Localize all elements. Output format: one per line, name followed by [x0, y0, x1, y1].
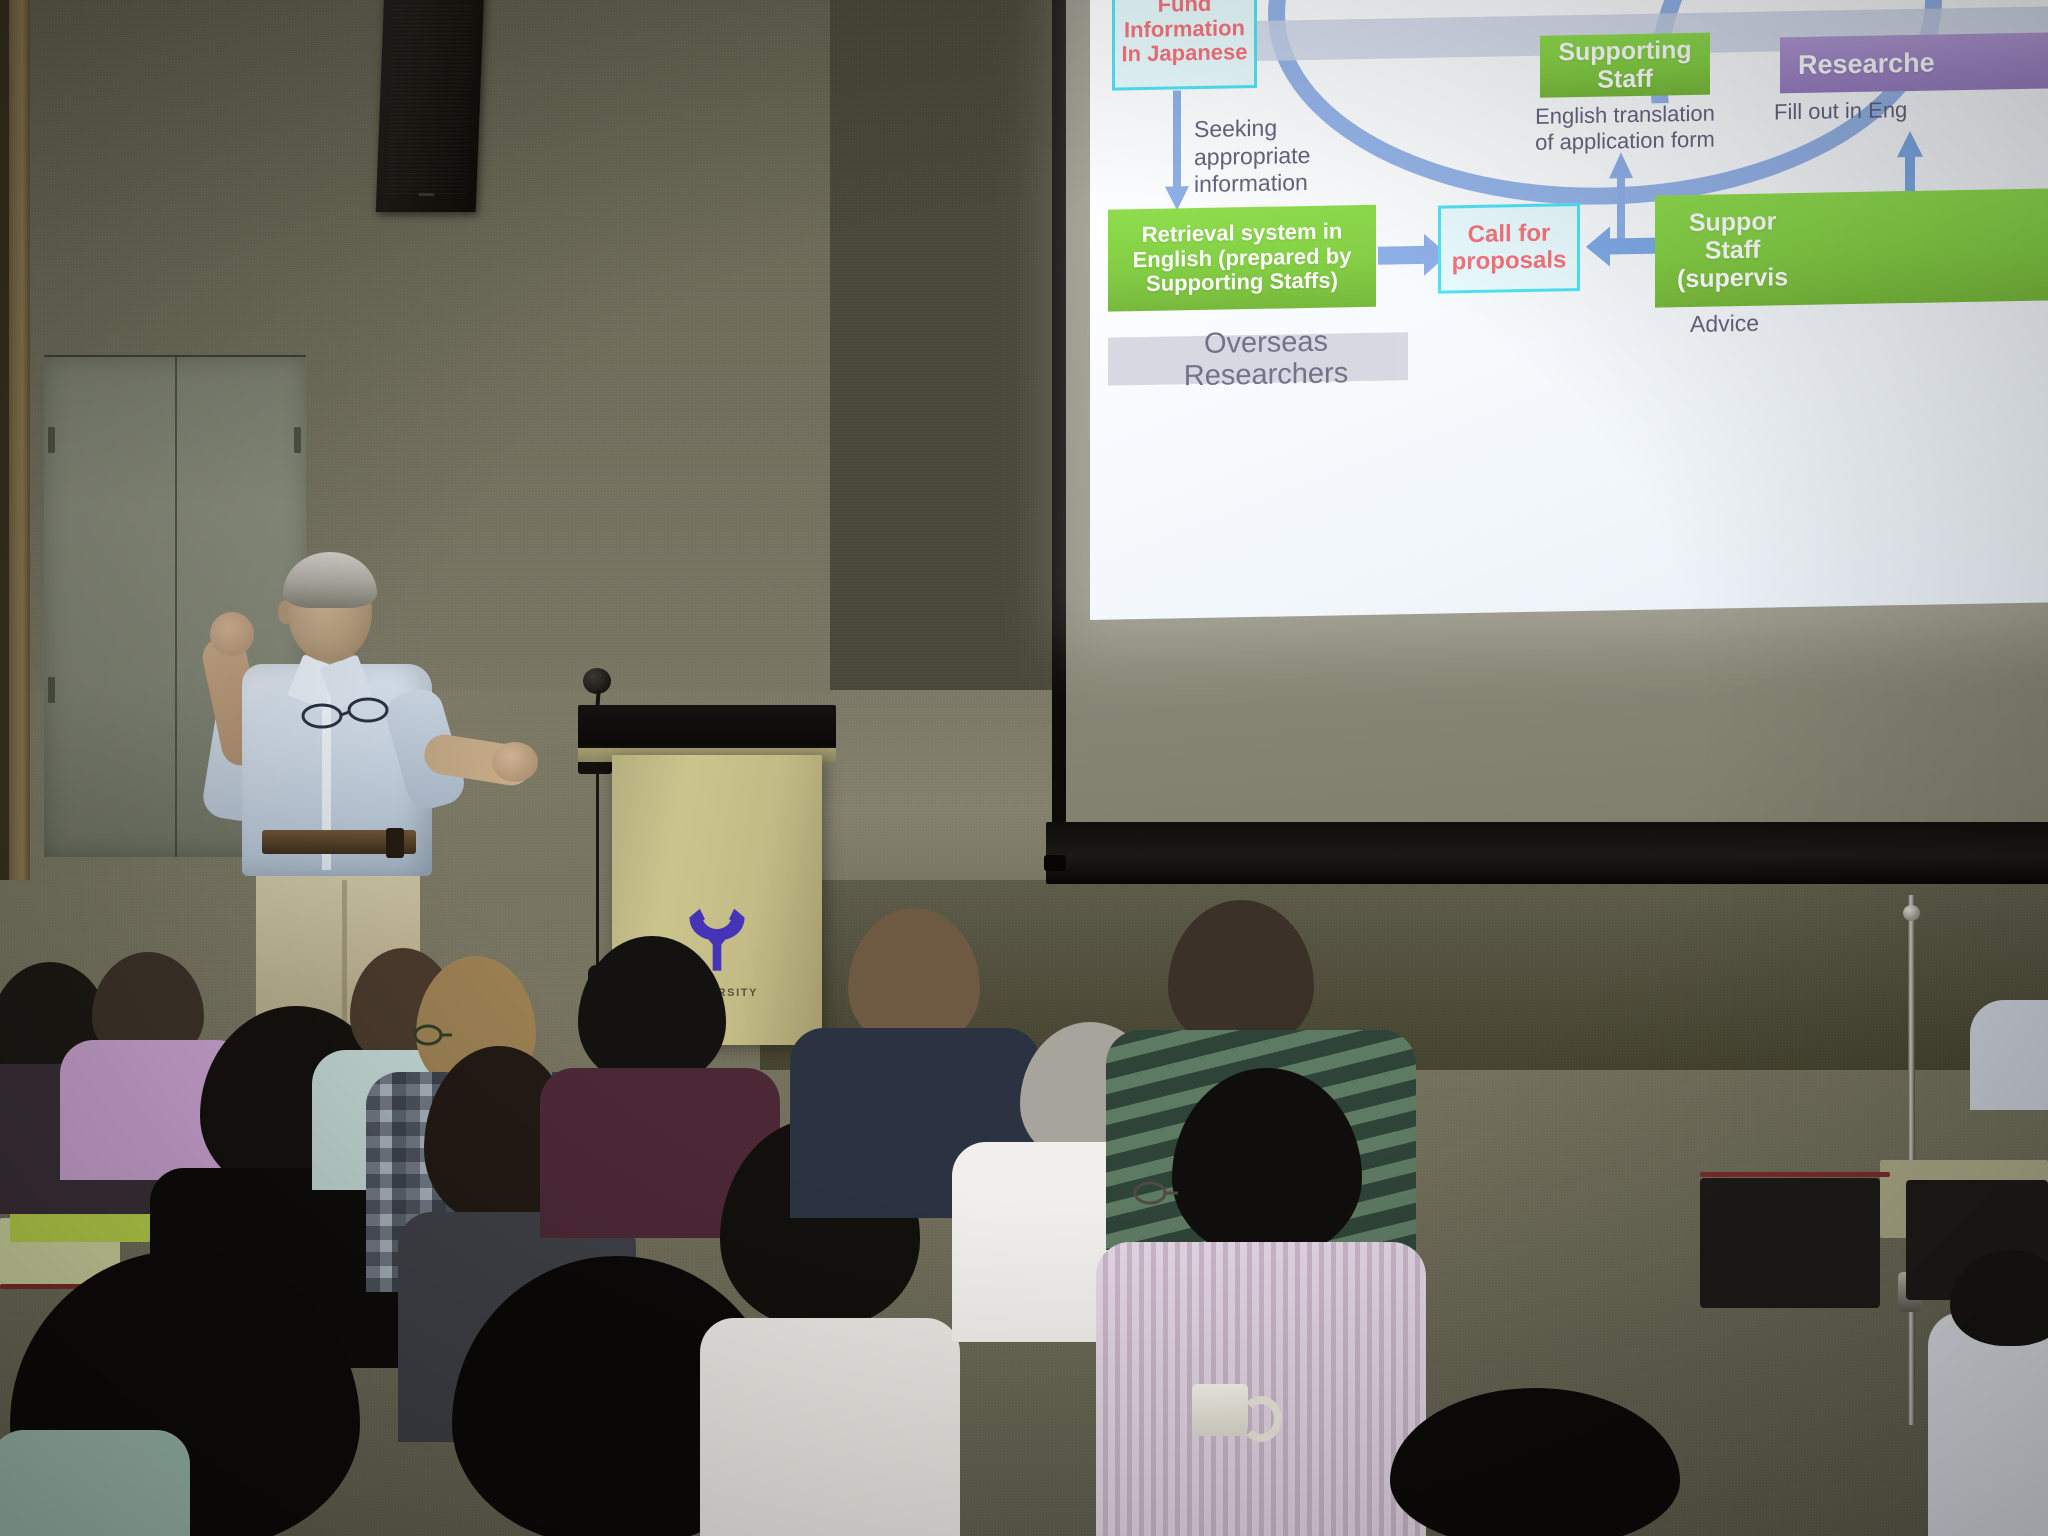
slide-caption-fill-out: Fill out in Eng	[1774, 94, 2048, 126]
slide-box-call-for-proposals: Call for proposals	[1438, 203, 1580, 294]
audience-body	[1096, 1242, 1426, 1536]
door-hinge	[48, 677, 55, 703]
projection-screen-left-edge	[1052, 0, 1066, 860]
arrow-left-icon	[1584, 222, 1656, 271]
projection-screen: External Fund Information In Japanese Se…	[1060, 0, 2048, 900]
wall-speaker-box	[376, 0, 485, 212]
slide-caption-seeking-info: Seeking appropriate information	[1194, 113, 1384, 199]
audience-body	[0, 1430, 190, 1536]
arrow-down-icon	[1160, 90, 1194, 215]
chair-trim	[1700, 1172, 1890, 1177]
chair-back	[1700, 1178, 1880, 1308]
speaker-label-plate	[418, 193, 434, 196]
slide-box-external-fund: External Fund Information In Japanese	[1112, 0, 1257, 91]
door-hinge	[48, 427, 55, 453]
audience-body	[700, 1318, 960, 1536]
slide-box-supporting-staff-top: Supporting Staff	[1540, 33, 1710, 98]
presenter-left-hand	[210, 612, 254, 656]
microphone-stand-adjuster	[1903, 905, 1920, 921]
audience-body	[1970, 1000, 2048, 1110]
eyeglasses-icon	[1132, 1178, 1198, 1208]
eyeglasses-icon	[412, 1022, 468, 1048]
eyeglasses-icon	[300, 692, 392, 738]
lecture-hall-photo: External Fund Information In Japanese Se…	[0, 0, 2048, 1536]
coffee-mug-handle	[1240, 1396, 1282, 1442]
slide-caption-advice: Advice	[1690, 306, 1990, 339]
coffee-mug	[1192, 1384, 1248, 1436]
projected-slide: External Fund Information In Japanese Se…	[1090, 0, 2048, 620]
door-hinge	[294, 427, 301, 453]
slide-box-overseas-researchers: Overseas Researchers	[1108, 332, 1408, 385]
speaker-grille-icon	[386, 3, 473, 194]
projection-screen-end-cap	[1044, 855, 1066, 871]
slide-box-researcher: Researche	[1780, 32, 2048, 93]
slide-box-supporting-staff-right: Suppor Staff (supervis	[1655, 188, 2048, 308]
presenter-belt-buckle	[386, 828, 404, 858]
slide-caption-english-translation: English translation of application form	[1500, 100, 1750, 157]
projection-screen-bottom-bar	[1046, 822, 2048, 884]
wood-pillar-edge	[0, 0, 9, 880]
presenter-right-hand	[492, 742, 538, 782]
slide-box-retrieval-system: Retrieval system in English (prepared by…	[1108, 205, 1376, 312]
audience-body	[1928, 1312, 2048, 1536]
